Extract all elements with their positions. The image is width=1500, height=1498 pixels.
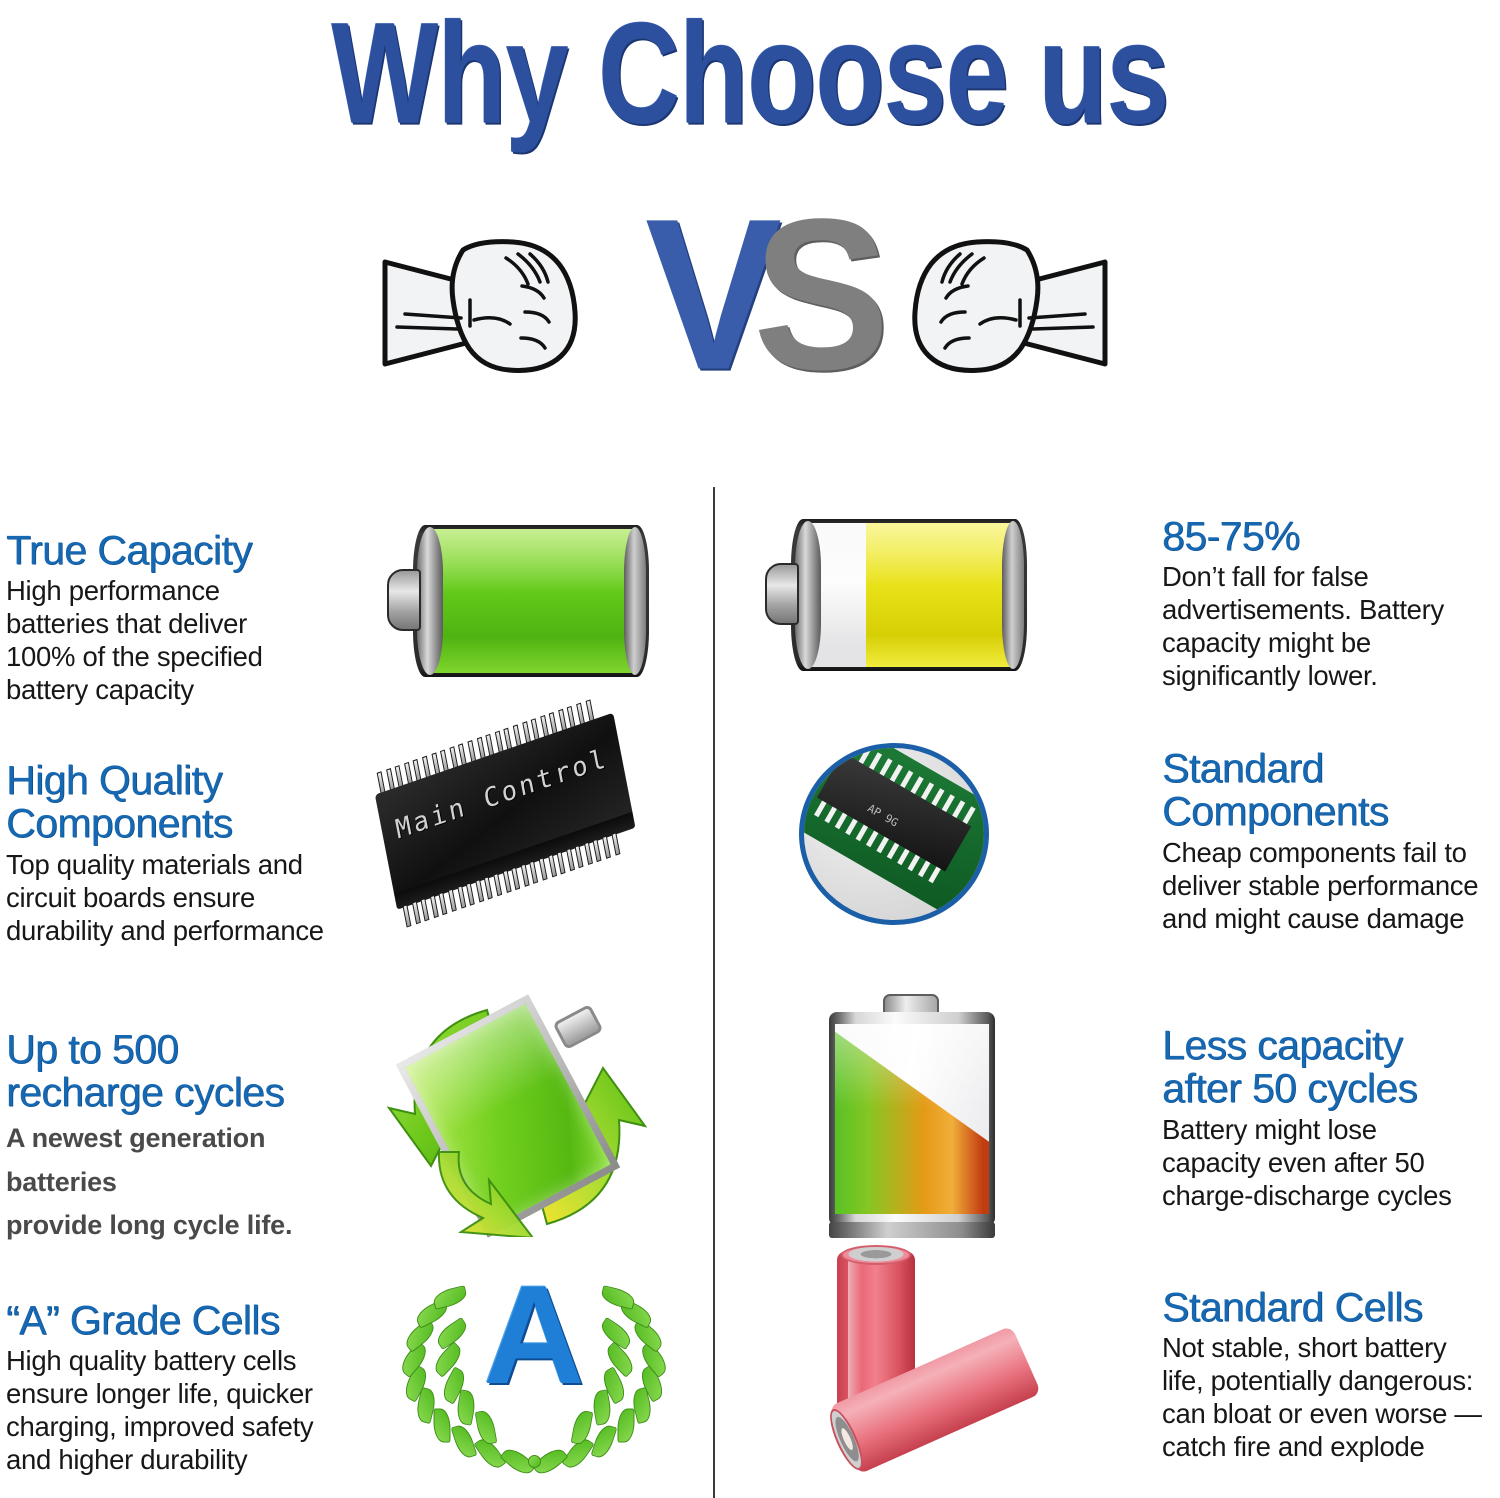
feature-text-less-capacity-50-cycles: Less capacity after 50 cycles Battery mi… [1140,986,1500,1241]
laurel-leaf [591,1423,618,1461]
magnified-circuit-board-icon: AP 9G [799,743,989,925]
laurel-leaf [618,1409,635,1443]
icon-cell-magnified-circuit-board: AP 9G [713,739,1140,986]
comparison-grid: True Capacity High performance batteries… [0,487,1500,1498]
battery-gloss [801,523,1017,586]
declining-capacity-battery-icon [821,990,1011,1238]
battery-terminal-nub [765,563,799,625]
feature-body: High quality battery cells ensure longer… [6,1344,347,1476]
feature-heading: High Quality Components [6,759,347,846]
feature-heading: Standard Cells [1162,1286,1492,1329]
infographic-page: Why Choose us [0,0,1500,1498]
feature-body: Top quality materials and circuit boards… [6,848,347,947]
battery-fill-area [835,1024,989,1214]
comparison-row: Up to 500 recharge cycles A newest gener… [0,986,1500,1241]
versus-letters: V S [635,192,860,407]
laurel-berry [528,1455,541,1468]
comparison-row: “A” Grade Cells High quality battery cel… [0,1241,1500,1498]
icon-cell-main-control-chip: Main Control [355,739,713,986]
battery-shell [413,525,649,677]
page-title: Why Choose us [30,2,1470,146]
feature-heading: 85-75% [1162,515,1492,558]
versus-banner: V S [375,192,1115,407]
battery-right-cap [624,527,646,675]
main-control-chip-icon: Main Control [375,713,643,950]
feature-body: A newest generation batteries provide lo… [6,1117,347,1248]
comparison-row: True Capacity High performance batteries… [0,487,1500,739]
icon-cell-partial-yellow-battery [713,487,1140,739]
icon-cell-recycle-battery [355,986,713,1241]
battery-fill-area [423,529,639,673]
icon-cell-laurel-grade-a: A [355,1241,713,1498]
battery-right-cap [1002,521,1024,669]
feature-heading: “A” Grade Cells [6,1299,347,1342]
feature-text-high-quality-components: High Quality Components Top quality mate… [0,739,355,986]
feature-body: Not stable, short battery life, potentia… [1162,1331,1492,1463]
feature-body: Cheap components fail to deliver stable … [1162,836,1492,935]
feature-text-standard-cells: Standard Cells Not stable, short battery… [1140,1241,1500,1498]
feature-text-standard-components: Standard Components Cheap components fai… [1140,739,1500,986]
laurel-leaf [451,1423,478,1461]
battery-base [829,1222,995,1238]
feature-body: High performance batteries that deliver … [6,574,347,706]
laurel-wreath-grade-a-icon: A [389,1247,679,1485]
feature-heading: True Capacity [6,529,347,572]
cell-terminal [824,1405,869,1473]
feature-text-500-recharge-cycles: Up to 500 recharge cycles A newest gener… [0,986,355,1241]
partially-charged-yellow-battery-icon [765,519,1055,671]
full-green-battery-icon [387,525,677,677]
feature-heading: Up to 500 recharge cycles [6,1028,347,1115]
feature-heading: Less capacity after 50 cycles [1162,1024,1492,1111]
feature-body: Don’t fall for false advertisements. Bat… [1162,560,1492,692]
fist-left-icon [375,192,625,407]
battery-gloss [423,529,639,592]
feature-heading: Standard Components [1162,747,1492,834]
recycle-battery-icon [375,992,655,1237]
fist-right-icon [865,192,1115,407]
feature-text-a-grade-cells: “A” Grade Cells High quality battery cel… [0,1241,355,1498]
cell-terminal [841,1245,911,1265]
feature-body: Battery might lose capacity even after 5… [1162,1113,1492,1212]
feature-text-true-capacity: True Capacity High performance batteries… [0,487,355,739]
icon-cell-full-green-battery [355,487,713,739]
laurel-leaf [434,1409,451,1443]
battery-gloss [835,1024,989,1108]
battery-fill-area [801,523,1017,667]
battery-terminal-nub [387,569,421,631]
feature-text-85-75-percent: 85-75% Don’t fall for false advertisemen… [1140,487,1500,739]
grade-letter: A [389,1265,679,1405]
pink-18650-cells-icon [801,1245,1061,1493]
icon-cell-pink-cells [713,1241,1140,1498]
comparison-row: High Quality Components Top quality mate… [0,739,1500,986]
icon-cell-declining-capacity-battery [713,986,1140,1241]
battery-shell [791,519,1027,671]
battery-shell [829,1012,995,1226]
